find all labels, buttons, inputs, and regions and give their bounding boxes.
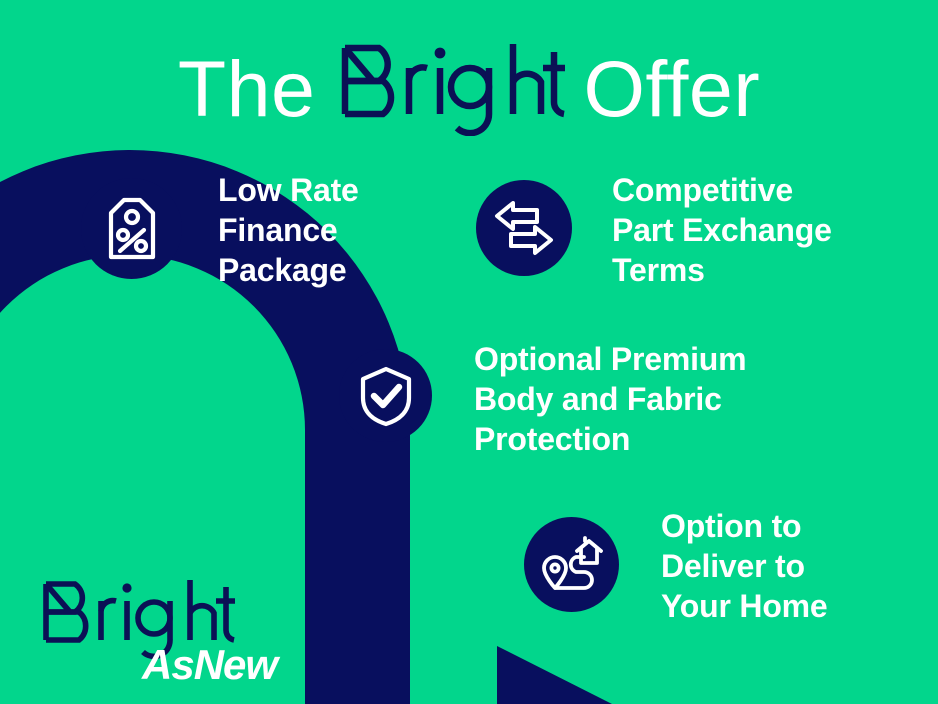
- title-suffix: Offer: [583, 49, 760, 128]
- brand-i-dot: [122, 583, 131, 592]
- feature-exchange: Competitive Part Exchange Terms: [476, 180, 832, 290]
- feature-protection-label: Optional Premium Body and Fabric Protect…: [474, 339, 746, 459]
- feature-exchange-label: Competitive Part Exchange Terms: [612, 170, 832, 290]
- feature-exchange-badge: [476, 180, 572, 276]
- brand-secondary-wordmark: AsNew: [141, 641, 280, 686]
- bright-i-dot: [435, 48, 446, 59]
- feature-finance-badge: [81, 178, 182, 279]
- title-prefix: The: [178, 49, 316, 128]
- feature-finance-label: Low Rate Finance Package: [218, 170, 359, 290]
- feature-finance: Low Rate Finance Package: [81, 178, 359, 290]
- navy-corner-wedge: [497, 646, 612, 704]
- page-title: The Bright: [0, 38, 938, 138]
- feature-delivery-badge: [524, 517, 619, 612]
- feature-delivery: Option to Deliver to Your Home: [524, 517, 828, 626]
- feature-protection-badge: [339, 349, 432, 442]
- bright-wordmark-title: Bright: [333, 40, 565, 136]
- brand-logo: Bright AsNew AsNew: [38, 578, 300, 691]
- offer-poster: The Bright: [0, 0, 938, 704]
- feature-delivery-label: Option to Deliver to Your Home: [661, 506, 828, 626]
- feature-protection: Optional Premium Body and Fabric Protect…: [339, 349, 746, 459]
- map-pin-route-house-icon: [540, 536, 604, 594]
- bright-asnew-logo: Bright AsNew AsNew: [38, 578, 300, 686]
- exchange-arrows-icon: [493, 199, 555, 257]
- shield-check-icon: [358, 365, 414, 427]
- price-tag-percent-icon: [103, 197, 161, 261]
